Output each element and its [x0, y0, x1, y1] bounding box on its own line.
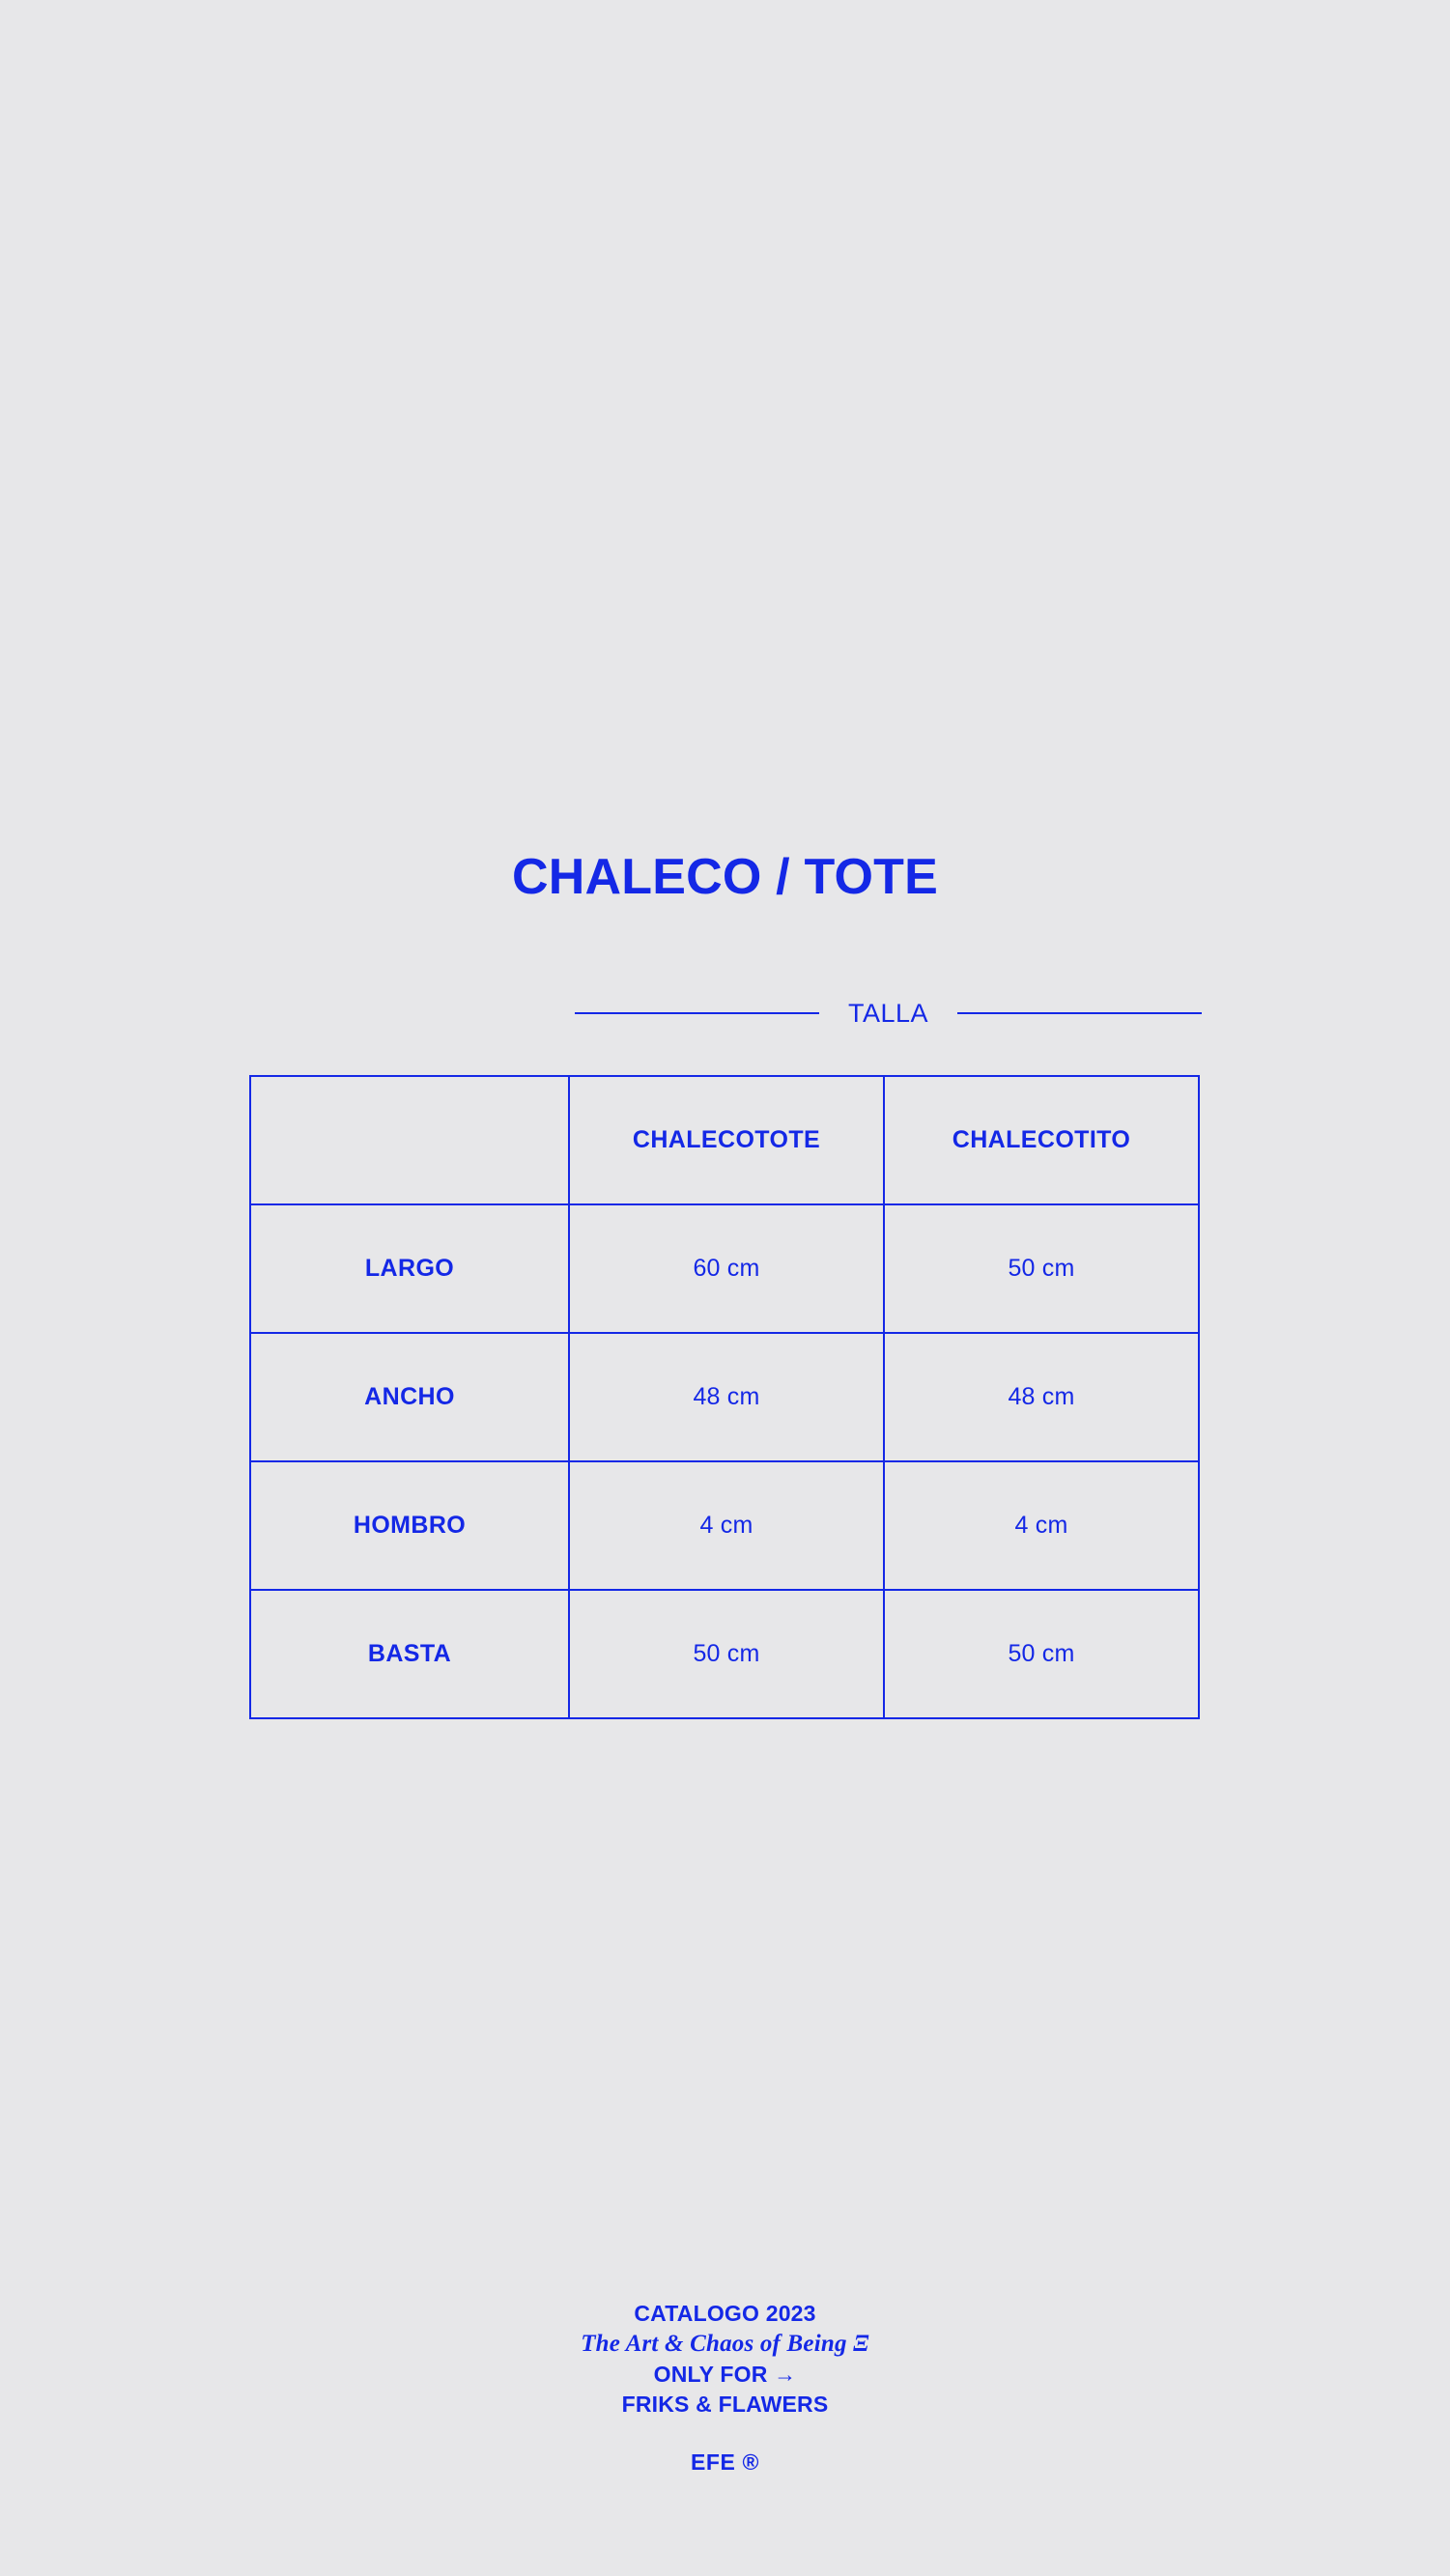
table-row: LARGO 60 cm 50 cm — [250, 1204, 1199, 1333]
size-chart-page: CHALECO / TOTE TALLA CHALECOTOTE CHALECO… — [0, 0, 1450, 2576]
footer-only-for: ONLY FOR → — [0, 2360, 1450, 2389]
cell-ancho-chalecotote: 48 cm — [569, 1333, 884, 1461]
cell-ancho-chalecotito: 48 cm — [884, 1333, 1199, 1461]
size-table: CHALECOTOTE CHALECOTITO LARGO 60 cm 50 c… — [249, 1075, 1200, 1719]
divider-rule-right — [957, 1012, 1202, 1014]
footer-brand: EFE ® — [0, 2448, 1450, 2477]
divider-label: TALLA — [819, 1001, 957, 1027]
cell-basta-chalecotito: 50 cm — [884, 1590, 1199, 1718]
table-row: HOMBRO 4 cm 4 cm — [250, 1461, 1199, 1590]
column-header-chalecotito: CHALECOTITO — [884, 1076, 1199, 1204]
table-head: CHALECOTOTE CHALECOTITO — [250, 1076, 1199, 1204]
cell-basta-chalecotote: 50 cm — [569, 1590, 884, 1718]
cell-largo-chalecotito: 50 cm — [884, 1204, 1199, 1333]
table-row: ANCHO 48 cm 48 cm — [250, 1333, 1199, 1461]
footer-tagline: The Art & Chaos of Being Ξ — [0, 2328, 1450, 2360]
table-corner-cell — [250, 1076, 569, 1204]
footer-friks-flawers: FRIKS & FLAWERS — [0, 2390, 1450, 2419]
talla-divider: TALLA — [575, 992, 1202, 1034]
row-label-basta: BASTA — [250, 1590, 569, 1718]
row-label-largo: LARGO — [250, 1204, 569, 1333]
cell-hombro-chalecotito: 4 cm — [884, 1461, 1199, 1590]
cell-largo-chalecotote: 60 cm — [569, 1204, 884, 1333]
cell-hombro-chalecotote: 4 cm — [569, 1461, 884, 1590]
row-label-hombro: HOMBRO — [250, 1461, 569, 1590]
page-title: CHALECO / TOTE — [0, 852, 1450, 902]
footer-catalogo: CATALOGO 2023 — [0, 2299, 1450, 2328]
table-row: BASTA 50 cm 50 cm — [250, 1590, 1199, 1718]
column-header-chalecotote: CHALECOTOTE — [569, 1076, 884, 1204]
table-body: LARGO 60 cm 50 cm ANCHO 48 cm 48 cm HOMB… — [250, 1204, 1199, 1718]
divider-rule-left — [575, 1012, 819, 1014]
row-label-ancho: ANCHO — [250, 1333, 569, 1461]
footer: CATALOGO 2023 The Art & Chaos of Being Ξ… — [0, 2299, 1450, 2477]
table-header-row: CHALECOTOTE CHALECOTITO — [250, 1076, 1199, 1204]
